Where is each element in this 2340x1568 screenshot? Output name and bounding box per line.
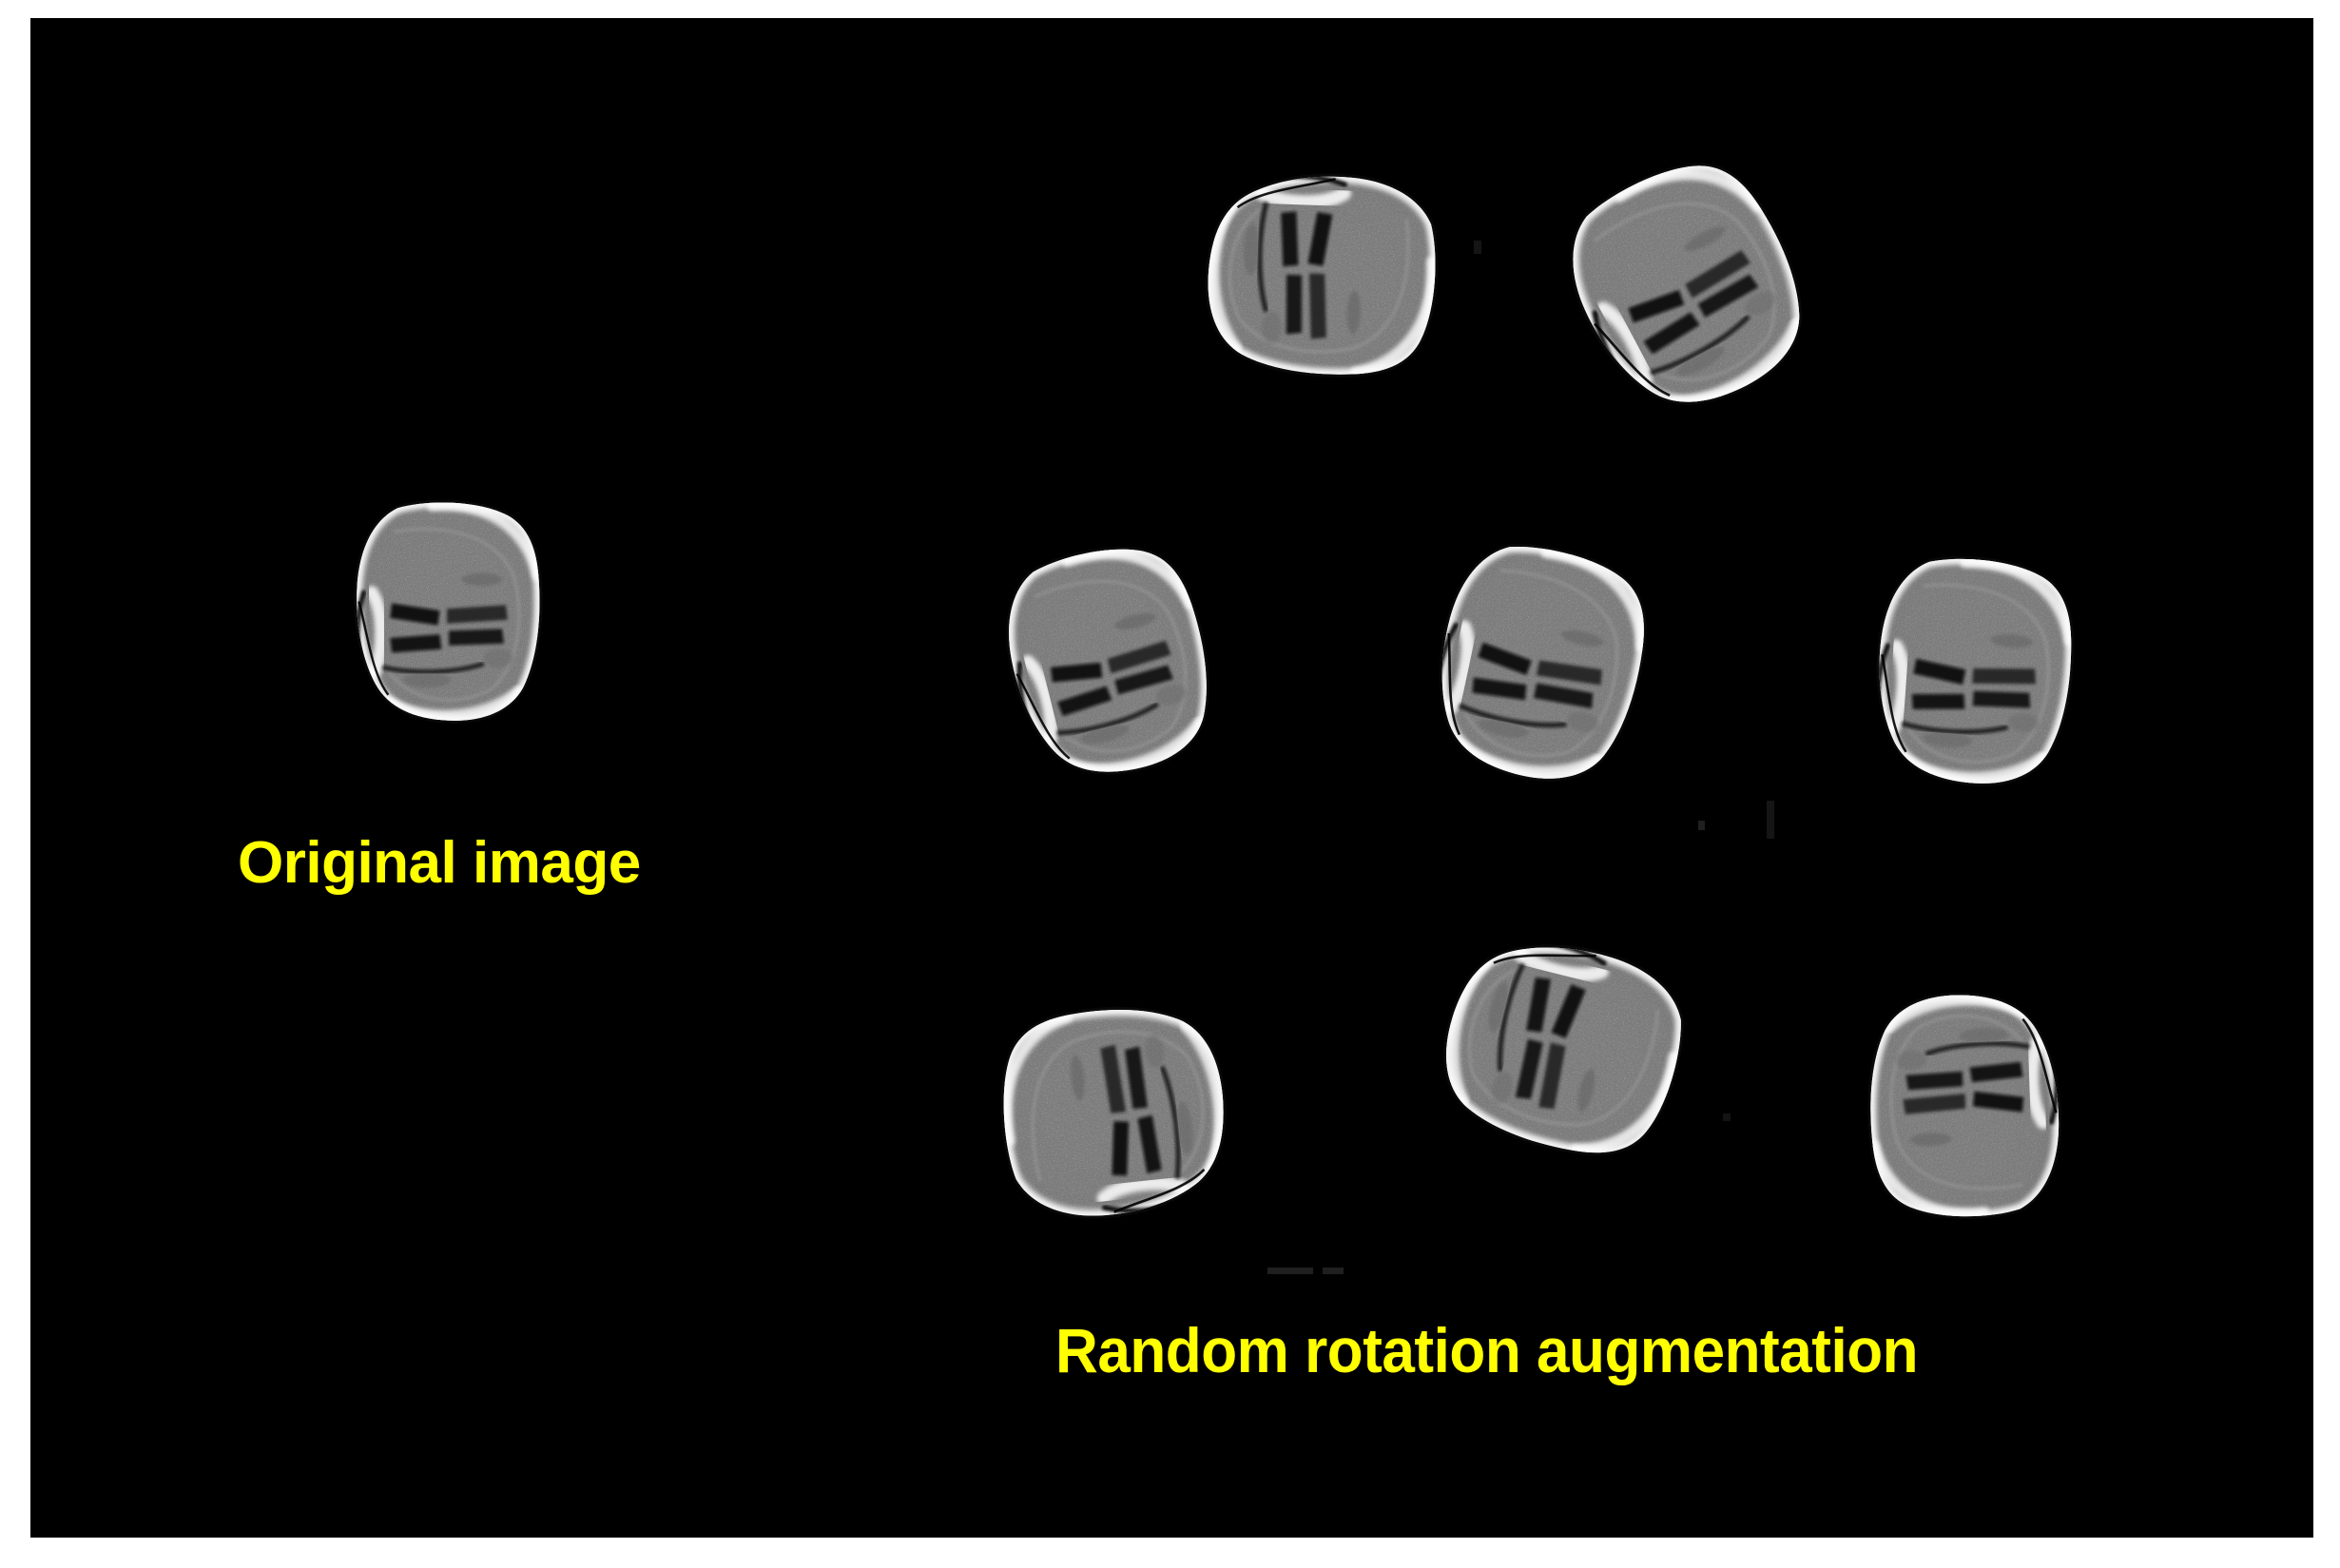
tooth-mri-graphic: [1407, 906, 1711, 1190]
augmented-tooth-8: [1849, 975, 2075, 1231]
artifact-dot-4: [1723, 1113, 1731, 1121]
original-image-label: Original image: [238, 834, 641, 893]
augmented-tooth-3: [976, 516, 1248, 811]
image-panel: Original image: [30, 18, 2313, 1538]
augmented-tooth-5: [1857, 541, 2095, 807]
tooth-mri-graphic: [976, 516, 1248, 811]
augmented-tooth-1: [1188, 158, 1450, 395]
random-rotation-augmentation-label: Random rotation augmentation: [1055, 1319, 1918, 1382]
augmented-tooth-6: [981, 979, 1251, 1240]
tooth-mri-graphic: [344, 492, 555, 737]
artifact-dot-1: [1698, 821, 1705, 830]
tooth-mri-graphic: [981, 979, 1251, 1240]
artifact-streak-2: [1323, 1268, 1344, 1274]
augmented-tooth-2: [1526, 119, 1856, 458]
tooth-mri-graphic: [1526, 119, 1856, 458]
tooth-mri-graphic: [1188, 158, 1450, 395]
tooth-mri-graphic: [1857, 541, 2095, 807]
artifact-streak-1: [1267, 1268, 1313, 1274]
augmented-tooth-4: [1404, 518, 1679, 815]
original-tooth: [344, 492, 555, 737]
figure-root: Original image: [0, 0, 2340, 1568]
artifact-dot-2: [1767, 801, 1774, 839]
artifact-dot-3: [1474, 241, 1481, 254]
tooth-mri-graphic: [1404, 518, 1679, 815]
tooth-mri-graphic: [1849, 975, 2075, 1231]
augmented-tooth-7: [1407, 906, 1711, 1190]
